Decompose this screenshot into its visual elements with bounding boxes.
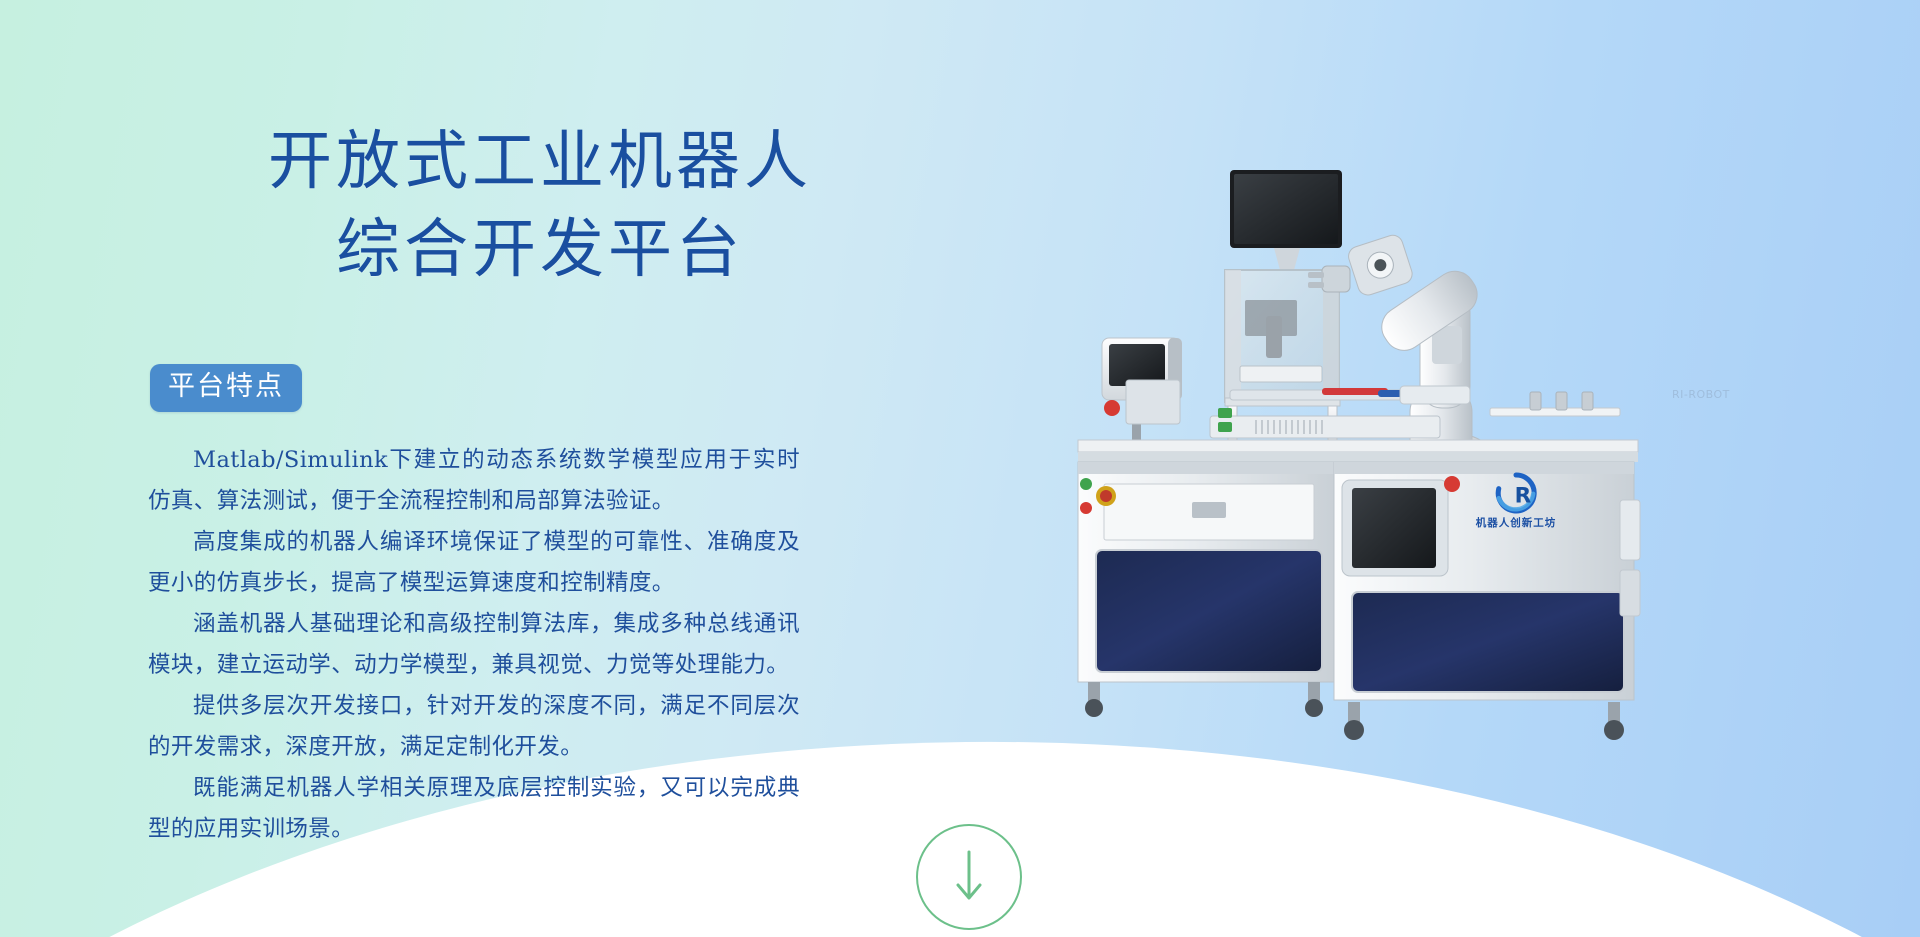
base-cabinet-right: [1334, 462, 1640, 740]
feature-item: Matlab/Simulink下建立的动态系统数学模型应用于实时仿真、算法测试，…: [148, 440, 800, 522]
feature-item: 涵盖机器人基础理论和高级控制算法库，集成多种总线通讯模块，建立运动学、动力学模型…: [148, 604, 800, 686]
page-title-line-1: 开放式工业机器人: [150, 118, 930, 206]
worktop-deck: [1078, 380, 1638, 462]
page-title: 开放式工业机器人 综合开发平台: [150, 118, 930, 294]
arrow-down-icon: [952, 848, 986, 906]
scroll-down-button[interactable]: [916, 824, 1022, 930]
overhead-monitor: [1230, 170, 1342, 270]
equipment-illustration: [1060, 140, 1660, 780]
equipment-watermark: RI-ROBOT: [1672, 388, 1730, 401]
section-badge: 平台特点: [150, 364, 302, 412]
page-title-line-2: 综合开发平台: [150, 206, 930, 294]
base-cabinet-left: [1078, 462, 1334, 717]
feature-item: 提供多层次开发接口，针对开发的深度不同，满足不同层次的开发需求，深度开放，满足定…: [148, 686, 800, 768]
feature-item: 既能满足机器人学相关原理及底层控制实验，又可以完成典型的应用实训场景。: [148, 768, 800, 850]
hero-banner: R 机器人创新工坊 RI-ROBOT 开放式工业机器人 综合开发平台 平台特点 …: [0, 0, 1920, 937]
feature-list: Matlab/Simulink下建立的动态系统数学模型应用于实时仿真、算法测试，…: [148, 440, 800, 850]
feature-item: 高度集成的机器人编译环境保证了模型的可靠性、准确度及更小的仿真步长，提高了模型运…: [148, 522, 800, 604]
